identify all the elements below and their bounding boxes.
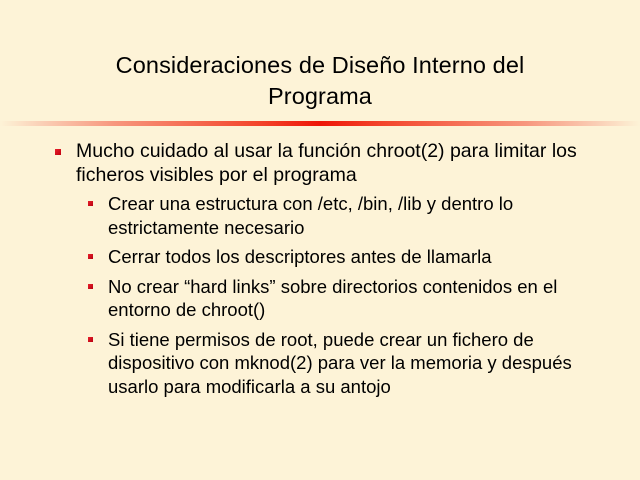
bullet-item-text: Crear una estructura con /etc, /bin, /li…: [108, 193, 513, 238]
bullet-marker-icon: [88, 201, 93, 206]
bullet-marker-icon: [55, 149, 61, 155]
bullet-marker-icon: [88, 254, 93, 259]
bullet-item-text: Mucho cuidado al usar la función chroot(…: [76, 140, 577, 186]
slide-body-list: Mucho cuidado al usar la función chroot(…: [0, 140, 640, 401]
bullet-item-level2: Cerrar todos los descriptores antes de l…: [0, 242, 640, 272]
bullet-item-level2: No crear “hard links” sobre directorios …: [0, 272, 640, 325]
bullet-item-text: No crear “hard links” sobre directorios …: [108, 276, 557, 321]
bullet-marker-icon: [88, 337, 93, 342]
bullet-marker-icon: [88, 284, 93, 289]
slide-title-line-2: Programa: [60, 81, 580, 112]
title-divider-rule: [0, 121, 640, 126]
bullet-item-level2: Crear una estructura con /etc, /bin, /li…: [0, 189, 640, 242]
bullet-item-level1: Mucho cuidado al usar la función chroot(…: [0, 140, 640, 187]
slide-title-line-1: Consideraciones de Diseño Interno del: [60, 50, 580, 81]
slide-title: Consideraciones de Diseño Interno del Pr…: [60, 50, 580, 112]
bullet-item-text: Cerrar todos los descriptores antes de l…: [108, 246, 492, 267]
bullet-item-level2: Si tiene permisos de root, puede crear u…: [0, 325, 640, 402]
presentation-slide: Consideraciones de Diseño Interno del Pr…: [0, 0, 640, 480]
bullet-item-text: Si tiene permisos de root, puede crear u…: [108, 329, 572, 397]
